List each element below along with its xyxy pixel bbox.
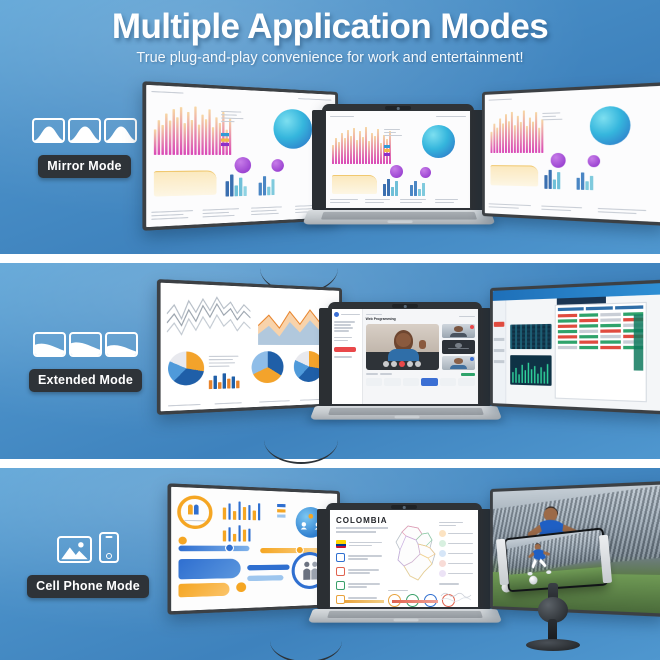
mode-badge-cellphone: Cell Phone Mode [18, 532, 158, 598]
monitor-rig-cellphone: COLOMBIA [180, 485, 620, 655]
left-monitor-mirror [142, 81, 338, 231]
laptop-screen-mirror [322, 104, 474, 212]
call-title: Web Programming [366, 317, 396, 321]
three-screens-mirror-icon [22, 118, 147, 143]
smartphone-on-clamp-mount[interactable] [498, 533, 628, 653]
webcam-icon [392, 304, 418, 308]
hinge-left [312, 110, 325, 210]
product-infographic: Multiple Application Modes True plug-and… [0, 0, 660, 660]
webcam-icon [391, 505, 417, 509]
left-monitor-extended [157, 279, 342, 415]
document-title: COLOMBIA [336, 516, 388, 525]
page-title: Multiple Application Modes [0, 9, 660, 46]
laptop-screen-extended: Web Programming [328, 302, 482, 408]
hinge-left [317, 509, 329, 609]
mode-label-mirror: Mirror Mode [38, 155, 130, 178]
screen-right [493, 283, 660, 411]
three-screens-extended-icon [18, 332, 153, 357]
monitor-rig-mirror [160, 82, 580, 242]
header: Multiple Application Modes True plug-and… [0, 0, 660, 80]
mode-badge-mirror: Mirror Mode [22, 118, 147, 178]
hinge-left [319, 308, 331, 406]
laptop-base-mirror [302, 210, 495, 224]
screen-left [171, 487, 337, 611]
mount-base [526, 639, 580, 651]
smartphone-icon [99, 532, 119, 563]
screen-center: Web Programming [332, 309, 478, 404]
monitor-rig-extended: Web Programming [172, 282, 592, 442]
screen-left [146, 85, 335, 227]
right-monitor-mirror [482, 82, 660, 226]
photo-icon [57, 536, 92, 563]
laptop-base-cellphone [308, 609, 503, 623]
photo-and-phone-icon [18, 532, 158, 563]
panel-divider [0, 459, 660, 468]
laptop-base-extended [310, 406, 503, 420]
screen-center [326, 111, 470, 208]
left-monitor-cellphone [168, 483, 340, 614]
screen-left [161, 283, 340, 412]
mode-label-extended: Extended Mode [29, 369, 142, 392]
screen-center: COLOMBIA [330, 510, 478, 607]
mode-badge-extended: Extended Mode [18, 332, 153, 392]
mode-label-cellphone: Cell Phone Mode [27, 575, 149, 598]
page-subtitle: True plug-and-play convenience for work … [0, 50, 660, 66]
laptop-screen-cellphone: COLOMBIA [326, 503, 482, 611]
screen-right [485, 86, 660, 222]
webcam-icon [385, 106, 411, 110]
phone-screen [506, 530, 606, 591]
right-monitor-extended [490, 279, 660, 414]
panel-divider [0, 254, 660, 263]
